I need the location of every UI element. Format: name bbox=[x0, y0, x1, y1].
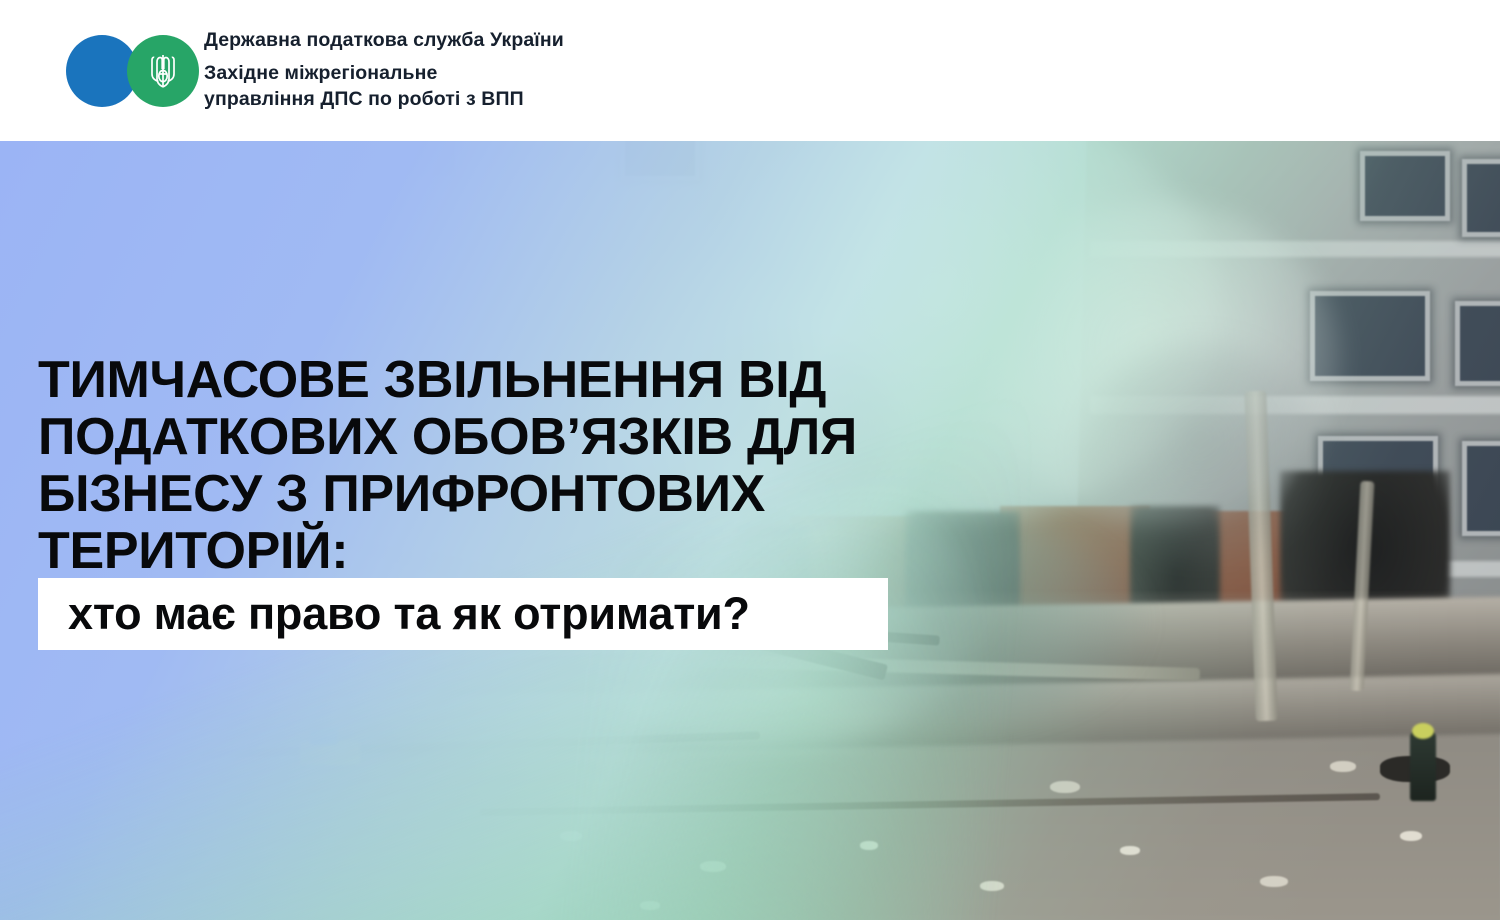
poster-canvas: Державна податкова служба України Західн… bbox=[0, 0, 1500, 920]
page-title: ТИМЧАСОВЕ ЗВІЛЬНЕННЯ ВІД ПОДАТКОВИХ ОБОВ… bbox=[38, 352, 918, 580]
headline-line-1: ТИМЧАСОВЕ ЗВІЛЬНЕННЯ ВІД bbox=[38, 352, 918, 409]
subtitle-banner: хто має право та як отримати? bbox=[38, 578, 888, 650]
agency-name: Державна податкова служба України bbox=[204, 29, 564, 52]
agency-logo bbox=[66, 35, 184, 107]
content-layer: ТИМЧАСОВЕ ЗВІЛЬНЕННЯ ВІД ПОДАТКОВИХ ОБОВ… bbox=[0, 141, 1500, 920]
agency-titles: Державна податкова служба України Західн… bbox=[204, 29, 564, 112]
subtitle-text: хто має право та як отримати? bbox=[68, 588, 750, 640]
headline-line-3: БІЗНЕСУ З ПРИФРОНТОВИХ bbox=[38, 466, 918, 523]
logo-green-circle bbox=[127, 35, 199, 107]
department-name-line-2: управління ДПС по роботі з ВПП bbox=[204, 86, 564, 112]
ukraine-trident-icon bbox=[148, 52, 178, 90]
department-name-line-1: Західне міжрегіональне bbox=[204, 60, 564, 86]
header-bar: Державна податкова служба України Західн… bbox=[0, 0, 1500, 141]
headline-line-4: ТЕРИТОРІЙ: bbox=[38, 523, 918, 580]
headline-line-2: ПОДАТКОВИХ ОБОВ’ЯЗКІВ ДЛЯ bbox=[38, 409, 918, 466]
